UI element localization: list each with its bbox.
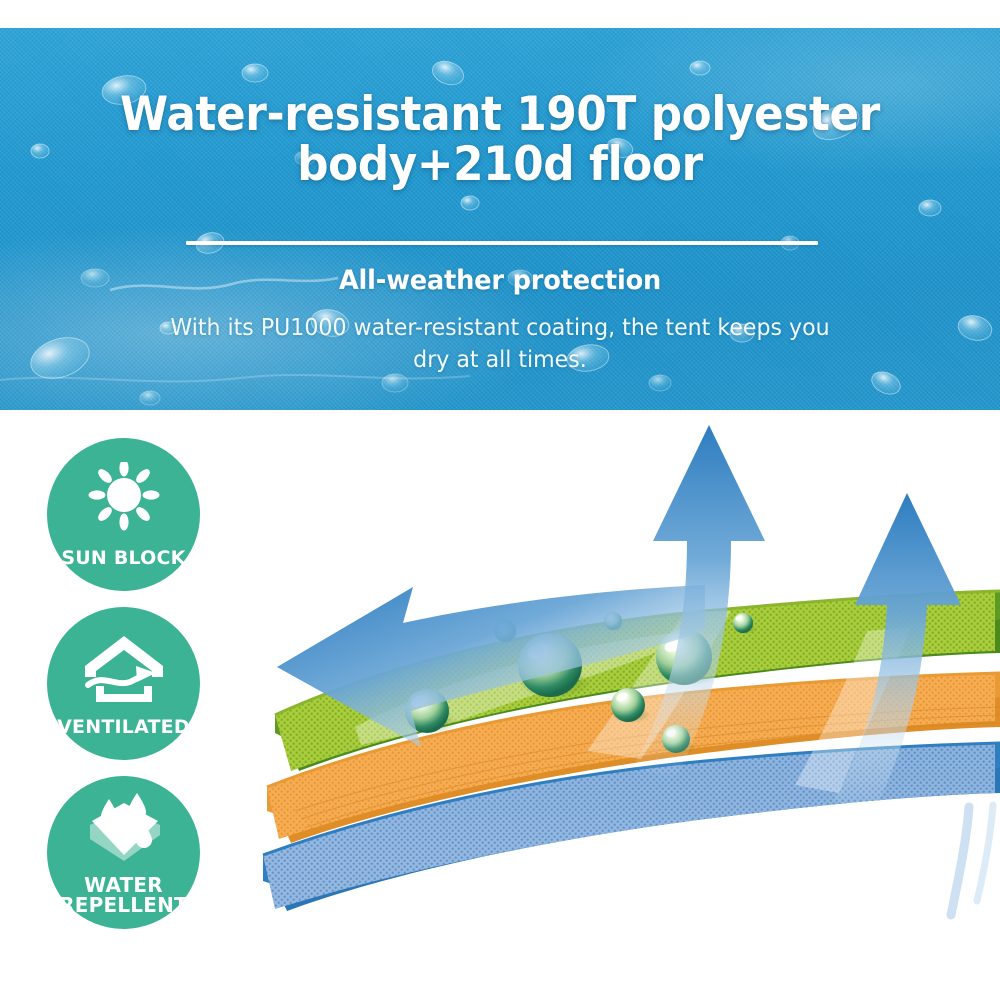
page-title: Water-resistant 190T polyester body+210d…: [35, 90, 965, 190]
badge-label: SUN BLOCK: [61, 548, 185, 568]
badge-water-repellent[interactable]: WATER REPELLENT: [47, 776, 200, 929]
vapor-streaks: [951, 805, 993, 915]
subtitle: All-weather protection: [25, 265, 975, 296]
divider: [186, 241, 818, 245]
product-feature-image: Water-resistant 190T polyester body+210d…: [0, 0, 1000, 1000]
badge-ventilated[interactable]: VENTILATED: [47, 607, 200, 760]
fabric-layers-illustration: [235, 415, 1000, 960]
badge-label-line-1: WATER: [59, 875, 188, 895]
banner-hero: Water-resistant 190T polyester body+210d…: [0, 28, 1000, 410]
fabric-droplets-icon: [74, 791, 174, 871]
feature-badge-list: SUN BLOCK VENTILATED: [47, 438, 207, 945]
sun-icon: [78, 462, 170, 540]
badge-label-line-2: REPELLENT: [59, 895, 188, 915]
house-airflow-icon: [74, 630, 174, 710]
badge-label: WATER REPELLENT: [59, 875, 188, 915]
badge-label: VENTILATED: [57, 717, 190, 737]
headline-line-2: body+210d floor: [35, 140, 965, 190]
headline-line-1: Water-resistant 190T polyester: [35, 90, 965, 140]
description-text: With its PU1000 water-resistant coating,…: [164, 312, 836, 376]
badge-sun-block[interactable]: SUN BLOCK: [47, 438, 200, 591]
